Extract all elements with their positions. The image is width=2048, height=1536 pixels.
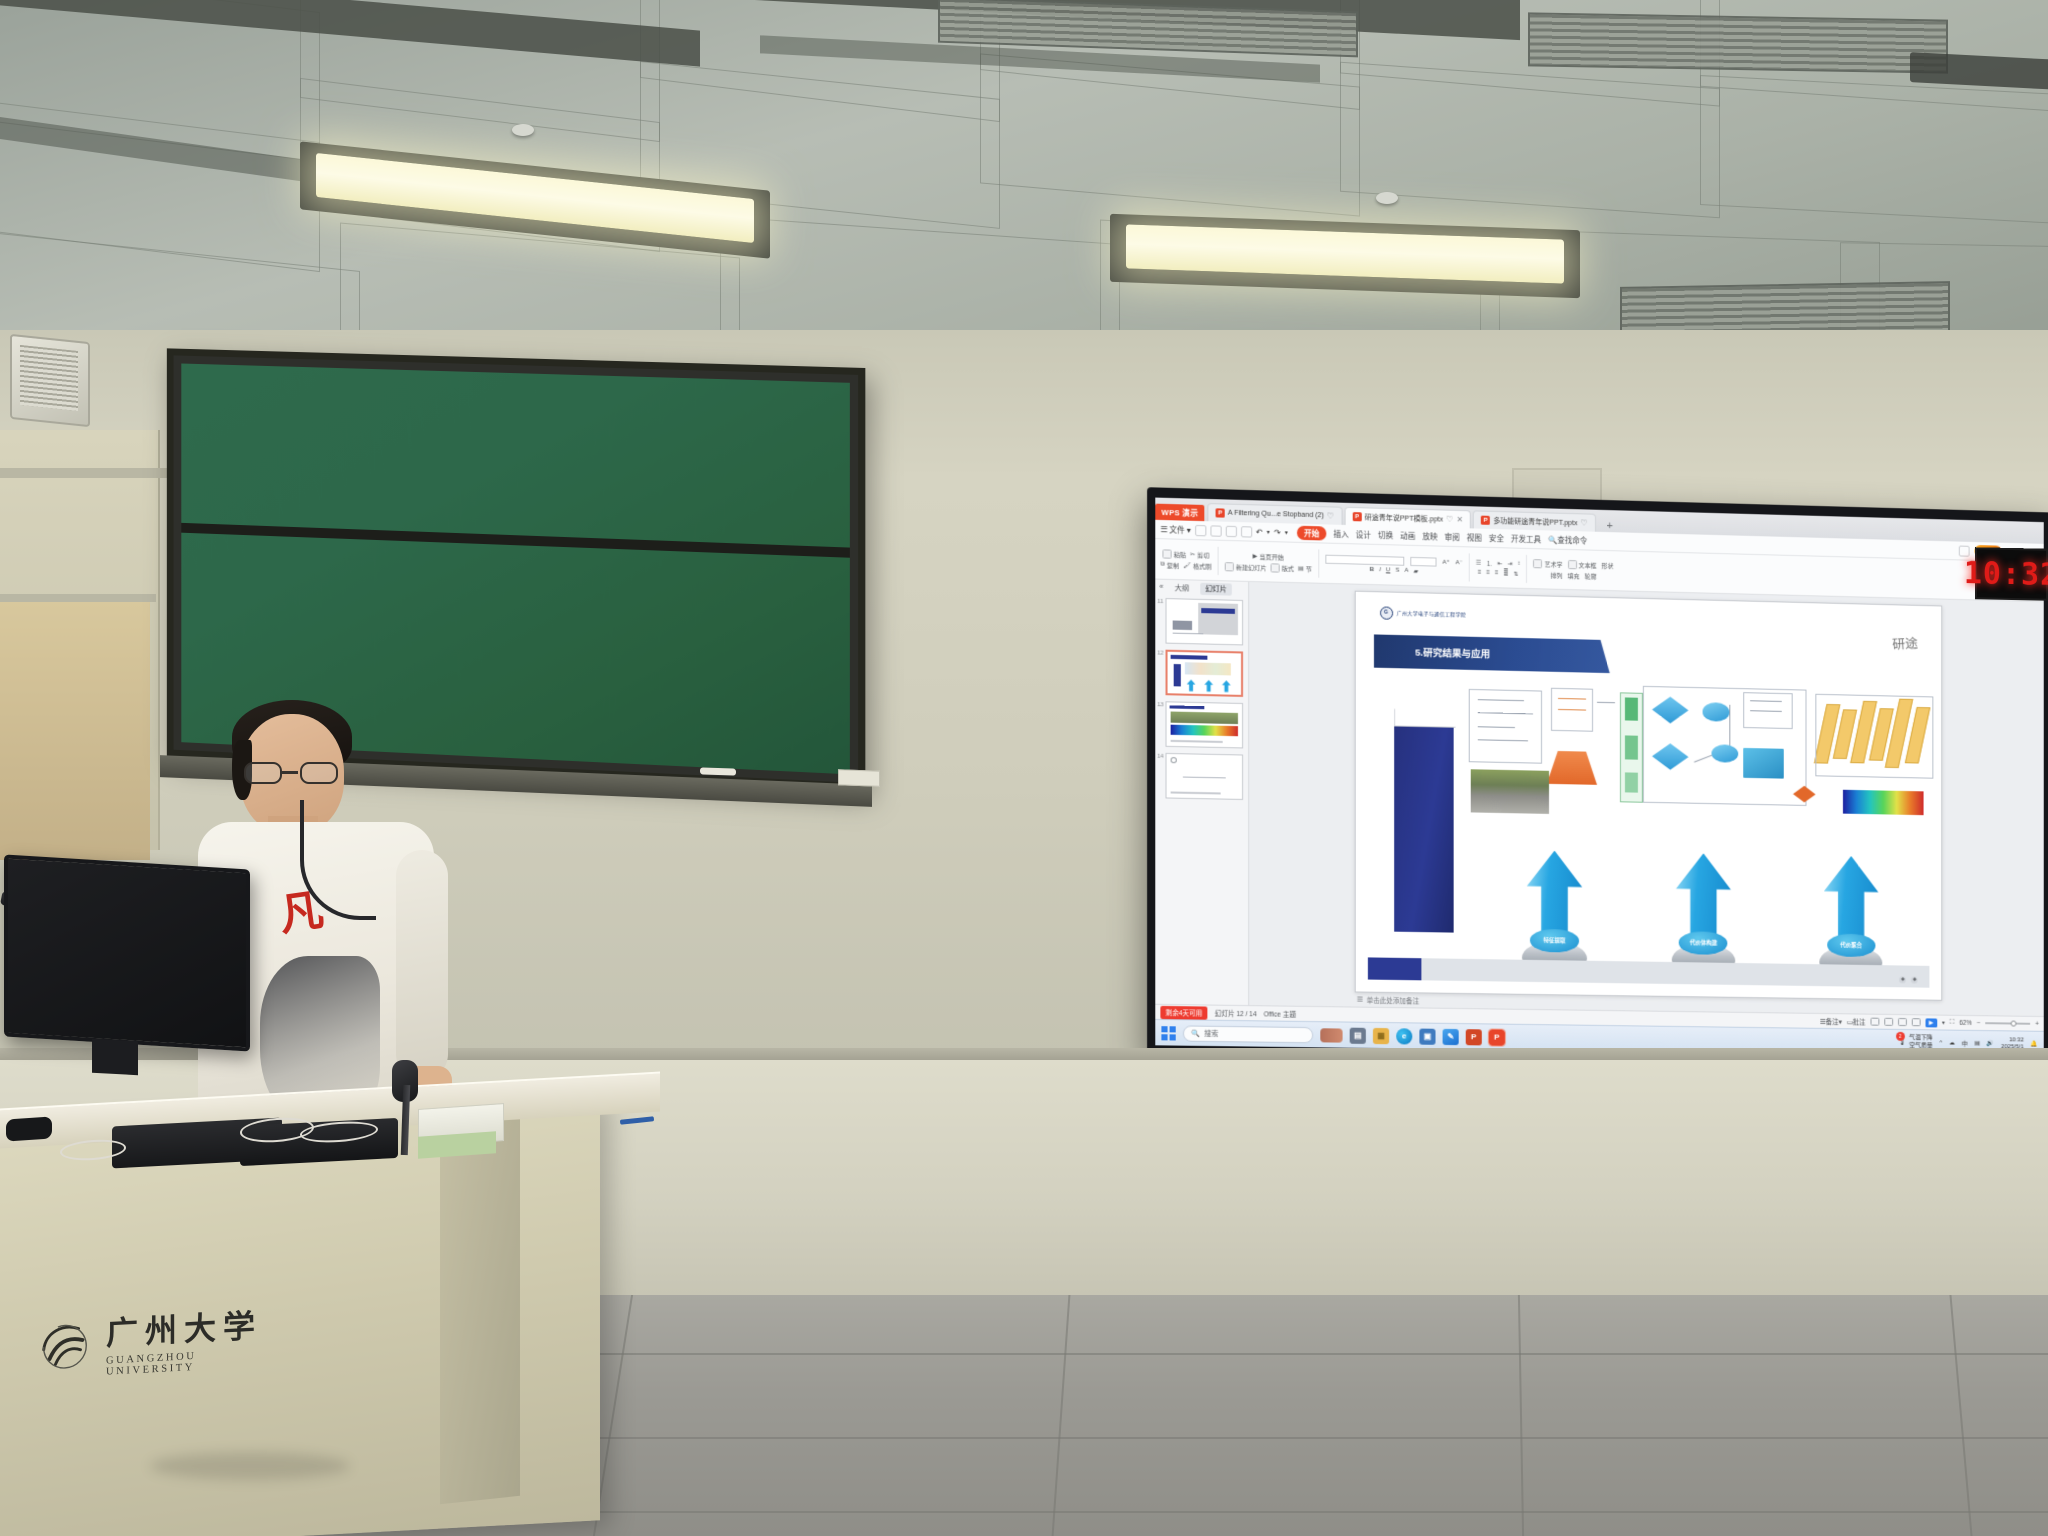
arrow-label-1: 特征提取 (1543, 936, 1565, 944)
widget-animal-icon[interactable] (1320, 1028, 1342, 1042)
wps-workspace: « 大纲 幻灯片 11 (1155, 580, 2043, 1016)
number-list-icon[interactable]: ⒈ (1486, 558, 1492, 567)
wps-cloud-icon[interactable]: ✎ (1443, 1028, 1459, 1044)
current-slide[interactable]: G 广州大学电子与通信工程学院 5.研究结果与应用 研途 (1355, 591, 1942, 1001)
fit-to-window-icon[interactable]: ⛶ (1950, 1019, 1954, 1027)
ribbon-tab-review[interactable]: 审阅 (1445, 531, 1460, 542)
wordart-button[interactable]: 艺术字 (1533, 559, 1562, 569)
print-icon[interactable] (1210, 525, 1221, 536)
section-button[interactable]: ▤ 节 (1298, 564, 1312, 573)
slide-institution-label: 广州大学电子与通信工程学院 (1397, 610, 1466, 619)
panel-tab-outline[interactable]: 大纲 (1170, 581, 1195, 594)
underline-button[interactable]: U (1386, 567, 1390, 573)
wps-presentation-window: WPS 演示 P A Filtering Qu...e Stopband (2)… (1155, 498, 2043, 1057)
volume-icon[interactable]: 🔊 (1987, 1040, 1994, 1047)
powerpoint-icon[interactable]: P (1466, 1029, 1482, 1045)
shape-label: 形状 (1602, 560, 1614, 569)
align-center-icon[interactable]: ≡ (1486, 570, 1490, 576)
font-family-select[interactable] (1325, 554, 1404, 565)
monitor-stand (92, 1039, 138, 1075)
command-search-box[interactable]: 🔍查找命令 (1548, 534, 1587, 546)
italic-button[interactable]: I (1379, 567, 1381, 573)
justify-icon[interactable]: ≣ (1503, 570, 1508, 577)
wordart-label: 艺术字 (1544, 559, 1562, 568)
wps-app-logo: WPS 演示 (1155, 504, 1204, 522)
outline-label: 轮廓 (1585, 571, 1597, 580)
notes-icon: ☰ (1357, 995, 1363, 1003)
print-preview-icon[interactable] (1225, 525, 1236, 536)
copy-button[interactable]: ⧉ 复制 (1160, 560, 1179, 570)
right-arm (396, 850, 448, 1080)
start-from-current-button[interactable]: ▶ 当页开始 (1253, 551, 1284, 561)
mouse[interactable] (6, 1116, 52, 1141)
thumbnail-number-11: 11 (1157, 599, 1163, 605)
ribbon-tab-design[interactable]: 设计 (1356, 529, 1371, 540)
slide-editing-stage[interactable]: G 广州大学电子与通信工程学院 5.研究结果与应用 研途 (1249, 582, 2044, 1016)
panel-tab-slides[interactable]: 幻灯片 (1200, 582, 1232, 595)
slide-counter: 幻灯片 12 / 14 (1215, 1008, 1257, 1019)
slide-thumbnail-panel: « 大纲 幻灯片 11 (1155, 580, 1249, 1006)
slide-calligraphy-stamp: 研途 (1892, 633, 1919, 653)
taskbar-search-placeholder: 搜索 (1204, 1028, 1218, 1038)
store-icon[interactable]: ▣ (1419, 1028, 1435, 1044)
slide-nav-dot-2[interactable]: ◆ (1911, 976, 1918, 983)
ribbon-tab-insert[interactable]: 插入 (1333, 528, 1348, 539)
section-label: 节 (1306, 564, 1312, 573)
highlight-icon[interactable]: ▰ (1414, 568, 1419, 575)
arrow-feature-extraction: 特征提取 (1510, 826, 1599, 970)
undo-dropdown-icon[interactable]: ▾ (1267, 528, 1270, 535)
outline-button[interactable]: 轮廓 (1585, 571, 1597, 580)
search-icon: 🔍 (1548, 535, 1557, 544)
font-color-button[interactable]: A (1404, 568, 1408, 574)
layout-button[interactable]: 版式 (1271, 563, 1294, 573)
fill-label: 填充 (1568, 571, 1580, 580)
taskbar-search-box[interactable]: 🔍 搜索 (1183, 1025, 1313, 1043)
zoom-in-button[interactable]: + (2035, 1020, 2039, 1027)
command-search-label: 查找命令 (1557, 535, 1587, 545)
file-menu-label: 文件 (1169, 524, 1184, 536)
thumbnail-list[interactable]: 11 12 (1155, 595, 1248, 1005)
wall-speaker (10, 334, 90, 427)
quick-access-more-icon[interactable]: ▾ (1285, 529, 1288, 536)
thumbnail-slide-14[interactable]: 14 (1166, 753, 1246, 800)
arrow-cost-volume: 代价体构建 (1659, 829, 1748, 973)
ceiling-air-vent-right (1528, 12, 1948, 73)
collapse-panel-icon[interactable]: « (1159, 584, 1163, 591)
decrease-indent-icon[interactable]: ⇤ (1497, 560, 1502, 567)
board-eraser[interactable] (838, 769, 880, 786)
ribbon-tab-slideshow[interactable]: 放映 (1422, 531, 1437, 542)
bold-button[interactable]: B (1370, 567, 1374, 573)
tab-favorite-icon[interactable]: ♡ (1446, 515, 1453, 524)
thumbnail-number-12: 12 (1157, 650, 1163, 656)
format-painter-button[interactable]: 🖌 格式刷 (1183, 561, 1211, 571)
trial-badge[interactable]: 剩余4天可用 (1160, 1005, 1207, 1019)
tab-favorite-icon-3[interactable]: ♡ (1580, 518, 1587, 527)
folder-icon[interactable]: ▦ (1373, 1027, 1389, 1043)
align-left-icon[interactable]: ≡ (1478, 570, 1482, 576)
podium-university-logo: 广州大学 GUANGZHOU UNIVERSITY (36, 1294, 276, 1387)
layout-icon (1271, 563, 1280, 572)
start-slideshow-button[interactable]: ▶ (1925, 1018, 1937, 1027)
presentation-file-icon: P (1216, 508, 1225, 517)
university-wordmark: 广州大学 GUANGZHOU UNIVERSITY (106, 1299, 276, 1377)
status-bar-right: ☰备注▾ ▭批注 ▶ ▾ ⛶ 62% − (1820, 1016, 2039, 1029)
display-screen[interactable]: WPS 演示 P A Filtering Qu...e Stopband (2)… (1155, 498, 2043, 1057)
export-pdf-icon[interactable] (1241, 526, 1252, 537)
presentation-file-icon-2: P (1352, 512, 1361, 521)
document-tab-3-label: 多功能研途青年说PPT.pptx (1493, 515, 1577, 527)
theme-name: Office 主题 (1264, 1008, 1296, 1019)
ribbon-tab-transitions[interactable]: 切换 (1378, 529, 1393, 540)
ribbon-group-clipboard: 粘贴 ✂ 剪切 ⧉ 复制 (1160, 549, 1211, 571)
arrow-cost-aggregation: 代价聚合 (1807, 832, 1895, 975)
line-spacing-icon[interactable]: ↕ (1517, 561, 1520, 567)
ribbon-tab-home[interactable]: 开始 (1297, 526, 1326, 541)
ribbon-tab-view[interactable]: 视图 (1467, 532, 1482, 543)
cloud-sync-icon[interactable]: ☁ (1949, 1040, 1955, 1047)
thumbnail-slide-13[interactable]: 13 (1166, 701, 1246, 748)
paste-button[interactable]: 粘贴 (1162, 549, 1186, 559)
ime-language-icon[interactable]: 中 (1962, 1039, 1968, 1048)
fill-button[interactable]: 填充 (1568, 571, 1580, 580)
notes-toggle-button[interactable]: ☰备注▾ (1820, 1016, 1842, 1026)
thumbnail-slide-11[interactable]: 11 (1166, 598, 1246, 645)
textbox-button[interactable]: 文本框 (1568, 560, 1597, 570)
start-current-label: 当页开始 (1259, 551, 1283, 561)
slide-sorter-view-button[interactable] (1884, 1018, 1893, 1026)
arrow-label-3: 代价聚合 (1840, 941, 1862, 949)
copy-icon: ⧉ (1160, 561, 1164, 568)
redo-icon[interactable]: ↷ (1274, 528, 1281, 537)
chalk-piece[interactable] (700, 767, 736, 775)
notes-toggle-label: 备注 (1826, 1019, 1839, 1026)
lecture-hall-scene: WPS 演示 P A Filtering Qu...e Stopband (2)… (0, 0, 2048, 1536)
copy-label: 复制 (1167, 560, 1179, 569)
new-slide-icon (1225, 562, 1234, 571)
slide-arrow-group: 特征提取 代价体构建 (1510, 826, 1895, 975)
file-menu-button[interactable]: ☰ 文件 ▾ (1160, 524, 1190, 536)
wps-presentation-icon[interactable]: P (1489, 1029, 1505, 1045)
presentation-file-icon-3: P (1481, 516, 1490, 525)
ribbon-group-paragraph: ☰ ⒈ ⇤ ⇥ ↕ ≡ ≡ ≡ ≣ ⇅ (1476, 558, 1521, 577)
strikethrough-button[interactable]: S (1395, 568, 1399, 574)
file-explorer-icon[interactable]: ▤ (1350, 1027, 1366, 1043)
wall-display: WPS 演示 P A Filtering Qu...e Stopband (2)… (1147, 487, 2048, 1070)
podium-side-panel (440, 1116, 520, 1504)
increase-indent-icon[interactable]: ⇥ (1507, 560, 1512, 567)
slide-institution-header: G 广州大学电子与通信工程学院 (1380, 606, 1467, 621)
ribbon-group-font: A⁺ A⁻ B I U S A ▰ (1325, 554, 1463, 576)
normal-view-button[interactable] (1870, 1018, 1879, 1026)
smoke-detector-2 (1376, 192, 1398, 204)
network-icon[interactable]: ▤ (1974, 1040, 1980, 1047)
play-circle-icon: ▶ (1253, 552, 1258, 559)
undo-icon[interactable]: ↶ (1256, 527, 1263, 536)
tab-close-icon[interactable]: ✕ (1456, 515, 1463, 524)
edge-icon[interactable]: e (1396, 1028, 1412, 1044)
paste-label: 粘贴 (1174, 549, 1186, 558)
slide-footer-accent (1368, 957, 1421, 980)
notification-badge: 2 (1896, 1032, 1905, 1041)
university-seal-icon: G (1380, 606, 1393, 619)
ribbon-group-slides: ▶ 当页开始 新建幻灯片 版式 (1225, 551, 1312, 573)
led-clock-time: 10:32 (1964, 556, 2048, 593)
podium-monitor[interactable] (4, 854, 250, 1051)
thumbnail-number-13: 13 (1157, 702, 1163, 708)
increase-font-icon[interactable]: A⁺ (1442, 558, 1449, 565)
zoom-out-button[interactable]: − (1977, 1020, 1981, 1027)
font-size-select[interactable] (1410, 556, 1436, 566)
zoom-slider-handle[interactable] (2011, 1020, 2017, 1026)
paste-icon (1162, 549, 1171, 558)
zoom-level-label[interactable]: 62% (1959, 1019, 1972, 1026)
chevron-down-icon: ▾ (1187, 525, 1191, 534)
wood-wall-panel (0, 600, 150, 860)
scissors-icon: ✂ (1190, 551, 1195, 558)
cut-button[interactable]: ✂ 剪切 (1190, 550, 1209, 560)
format-painter-label: 格式刷 (1193, 561, 1211, 571)
start-button-icon[interactable] (1161, 1026, 1175, 1040)
new-slide-button[interactable]: 新建幻灯片 (1225, 562, 1267, 572)
hamburger-icon: ☰ (1160, 525, 1167, 534)
comments-toggle-label: 批注 (1853, 1019, 1866, 1026)
textbox-icon (1568, 560, 1577, 569)
search-icon-taskbar: 🔍 (1191, 1029, 1200, 1037)
reading-view-button[interactable] (1898, 1018, 1907, 1026)
ribbon-tab-security[interactable]: 安全 (1489, 532, 1504, 543)
shape-button[interactable]: 形状 (1602, 560, 1614, 569)
layout-label: 版式 (1282, 563, 1294, 572)
slide-title-banner: 5.研究结果与应用 (1374, 634, 1610, 673)
save-icon[interactable] (1195, 524, 1206, 535)
thumbnail-number-14: 14 (1157, 754, 1163, 760)
cut-label: 剪切 (1197, 550, 1209, 559)
slide-nav-dot-1[interactable]: ◆ (1899, 976, 1906, 983)
textbox-label: 文本框 (1579, 560, 1597, 569)
bullet-list-icon[interactable]: ☰ (1476, 559, 1481, 566)
brush-icon: 🖌 (1183, 562, 1191, 569)
ribbon-group-drawing: 艺术字 文本框 形状 排列 (1533, 559, 1613, 581)
smoke-detector (512, 124, 534, 136)
document-tab-2-label: 研途青年说PPT模板.pptx (1365, 512, 1444, 524)
slide-nav-dots[interactable]: ◆ ◆ (1899, 976, 1918, 983)
decrease-font-icon[interactable]: A⁻ (1456, 559, 1463, 566)
new-slide-label: 新建幻灯片 (1236, 562, 1267, 572)
notifications-bell-icon[interactable]: 🔔 (2031, 1041, 2038, 1048)
ribbon-tab-animations[interactable]: 动画 (1400, 530, 1415, 541)
tab-lock-icon: ♡ (1327, 511, 1334, 520)
slideshow-options-icon[interactable]: ▾ (1942, 1019, 1945, 1026)
new-tab-button[interactable]: + (1598, 520, 1622, 533)
tray-expand-icon[interactable]: ^ (1939, 1040, 1942, 1046)
led-wall-clock: 10:32 (1975, 547, 2048, 601)
slide-title: 5.研究结果与应用 (1415, 645, 1490, 661)
wordart-icon (1533, 559, 1542, 568)
glasses-icon (244, 762, 342, 784)
presenter-view-button[interactable] (1912, 1018, 1921, 1026)
slide-blue-bar-graphic (1394, 724, 1453, 932)
arrow-label-2: 代价体构建 (1690, 939, 1717, 947)
text-direction-icon[interactable]: ⇅ (1513, 570, 1518, 577)
arrange-label: 排列 (1551, 570, 1563, 579)
comments-toggle-button[interactable]: ▭批注 (1847, 1016, 1866, 1026)
document-tab-1-label: A Filtering Qu...e Stopband (2) (1228, 510, 1324, 520)
ribbon-tab-developer[interactable]: 开发工具 (1511, 533, 1541, 545)
thumbnail-slide-12[interactable]: 12 (1166, 650, 1246, 697)
university-emblem-icon (36, 1314, 94, 1375)
section-icon: ▤ (1298, 565, 1304, 572)
university-name-cn: 广州大学 (106, 1299, 276, 1354)
arrange-button[interactable]: 排列 (1551, 570, 1563, 579)
notes-placeholder: 单击此处添加备注 (1367, 994, 1420, 1005)
align-right-icon[interactable]: ≡ (1495, 570, 1499, 576)
zoom-slider[interactable] (1985, 1022, 2030, 1024)
